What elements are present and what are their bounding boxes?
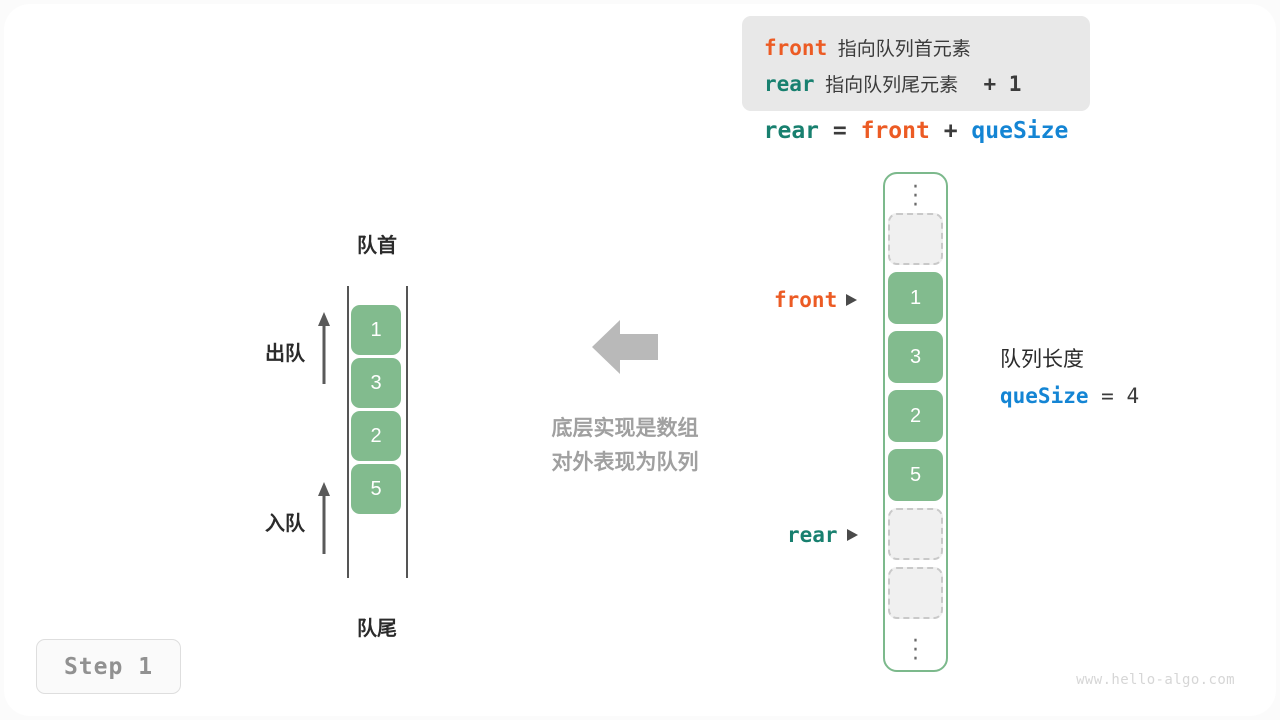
rear-formula: rear = front + queSize: [742, 118, 1090, 144]
queue-cell: 1: [351, 305, 401, 355]
array-ellipsis-top: ···: [883, 183, 948, 210]
formula-plus: +: [944, 118, 958, 144]
array-ellipsis-bottom: ···: [883, 637, 948, 664]
queue-rail-left: [347, 286, 349, 578]
left-arrow-icon: [592, 318, 658, 376]
array-cell-empty: [888, 213, 943, 265]
rear-keyword: rear: [764, 72, 815, 96]
quesize-value: 4: [1126, 384, 1139, 408]
formula-equals: =: [833, 118, 847, 144]
front-pointer-arrow-icon: [846, 294, 857, 306]
pointer-definition-callout: front 指向队列首元素 rear 指向队列尾元素 + 1: [742, 16, 1090, 111]
array-cell-empty: [888, 567, 943, 619]
formula-rear: rear: [764, 118, 819, 144]
rear-pointer-label: rear: [787, 522, 858, 547]
diagram-canvas: front 指向队列首元素 rear 指向队列尾元素 + 1 rear = fr…: [0, 0, 1280, 720]
queue-tail-label: 队尾: [317, 612, 437, 641]
array-cell-filled: 5: [888, 449, 943, 501]
front-description: 指向队列首元素: [838, 39, 971, 60]
step-badge: Step 1: [36, 639, 181, 694]
queue-rail-right: [406, 286, 408, 578]
rear-pointer-text: rear: [787, 523, 838, 547]
array-cell-empty: [888, 508, 943, 560]
formula-quesize: queSize: [971, 118, 1068, 144]
rear-pointer-arrow-icon: [847, 529, 858, 541]
quesize-caption: 队列长度: [1000, 341, 1230, 378]
queue-cell: 2: [351, 411, 401, 461]
quesize-annotation: 队列长度 queSize = 4: [1000, 341, 1230, 415]
front-pointer-text: front: [774, 288, 837, 312]
callout-line-front: front 指向队列首元素: [764, 30, 1090, 66]
array-cell-filled: 3: [888, 331, 943, 383]
quesize-equals: =: [1101, 384, 1114, 408]
quesize-name: queSize: [1000, 384, 1089, 408]
rear-description-value: 1: [1009, 72, 1022, 96]
array-cell-filled: 1: [888, 272, 943, 324]
dequeue-label: 出队: [245, 337, 305, 366]
callout-line-rear: rear 指向队列尾元素 + 1: [764, 66, 1090, 102]
queue-head-label: 队首: [317, 229, 437, 258]
front-keyword: front: [764, 36, 827, 60]
quesize-expression: queSize = 4: [1000, 378, 1230, 415]
queue-cell: 3: [351, 358, 401, 408]
formula-front: front: [861, 118, 930, 144]
enqueue-label: 入队: [245, 507, 305, 536]
queue-cell: 5: [351, 464, 401, 514]
rear-description-operator: +: [983, 72, 996, 96]
dequeue-arrow-icon: [317, 312, 331, 384]
implementation-note: 底层实现是数组 对外表现为队列: [505, 412, 745, 480]
array-cell-filled: 2: [888, 390, 943, 442]
enqueue-arrow-icon: [317, 482, 331, 554]
implementation-note-line1: 底层实现是数组: [505, 412, 745, 446]
implementation-note-line2: 对外表现为队列: [505, 446, 745, 480]
watermark: www.hello-algo.com: [1035, 672, 1235, 688]
rear-description: 指向队列尾元素: [825, 75, 958, 96]
front-pointer-label: front: [774, 287, 857, 312]
